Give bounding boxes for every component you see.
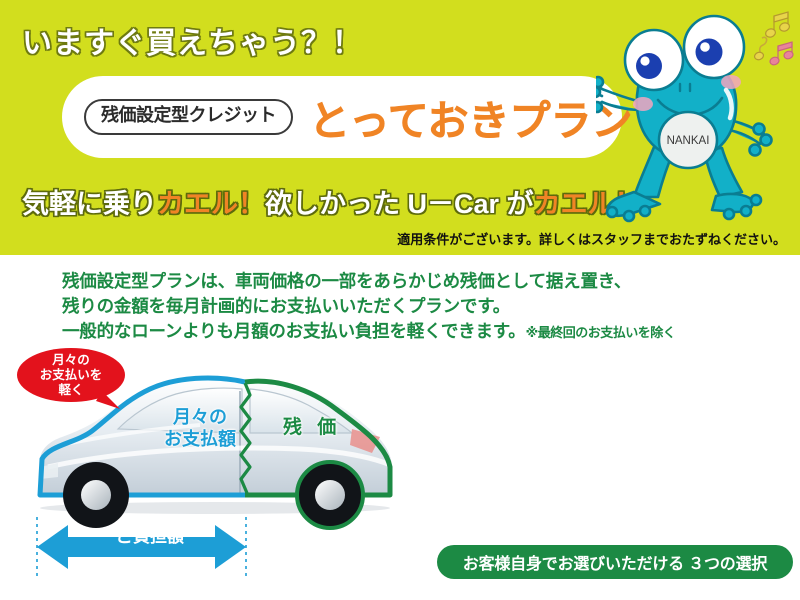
header-banner: いますぐ買えちゃう？！ 残価設定型クレジット とっておきプラン 気軽に乗りカエル… — [0, 0, 800, 255]
description-line-2: 残りの金額を毎月計画的にお支払いいただくプランです。 — [62, 294, 675, 319]
arrow-label-burden-amount: ご負担額 — [60, 522, 240, 547]
description-block: 残価設定型プランは、車両価格の一部をあらかじめ残価として据え置き、 残りの金額を… — [62, 269, 675, 344]
choose-options-badge: お客様自身でお選びいただける ３つの選択 — [437, 545, 793, 579]
monthly-payment-bubble — [16, 347, 126, 409]
description-note: ※最終回のお支払いを除く — [526, 325, 676, 340]
headline: いますぐ買えちゃう？！ — [22, 18, 363, 62]
poster-root: いますぐ買えちゃう？！ 残価設定型クレジット とっておきプラン 気軽に乗りカエル… — [0, 0, 800, 600]
mascot-belly-text: NANKAI — [667, 135, 710, 147]
frog-mascot: NANKAI — [596, 0, 800, 227]
plan-name-band: 残価設定型クレジット とっておきプラン — [62, 76, 622, 158]
front-wheel — [63, 462, 129, 528]
tagline: 気軽に乗りカエル！欲しかった U－Car がカエル！ — [22, 182, 642, 221]
description-line-3: 一般的なローンよりも月額のお支払い負担を軽くできます。 — [62, 321, 526, 341]
credit-type-chip: 残価設定型クレジット — [84, 99, 293, 135]
description-line-1: 残価設定型プランは、車両価格の一部をあらかじめ残価として据え置き、 — [62, 269, 675, 294]
tagline-part2: 欲しかった U－Car が — [265, 189, 534, 219]
tagline-part1: 気軽に乗り — [22, 189, 157, 219]
fineprint-note: 適用条件がございます。詳しくはスタッフまでおたずねください。 — [397, 229, 786, 248]
car-diagram: 月々の お支払いを 軽く 月々の お支払額 残 価 ご負担額 — [0, 345, 430, 595]
description-line-3-wrap: 一般的なローンよりも月額のお支払い負担を軽くできます。※最終回のお支払いを除く — [62, 319, 675, 344]
car-label-monthly-payment: 月々の お支払額 — [140, 407, 260, 450]
plan-name: とっておきプラン — [309, 87, 633, 147]
car-label-residual-value: 残 価 — [283, 412, 341, 439]
rear-wheel — [297, 462, 363, 528]
tagline-highlight1: カエル！ — [157, 189, 265, 219]
